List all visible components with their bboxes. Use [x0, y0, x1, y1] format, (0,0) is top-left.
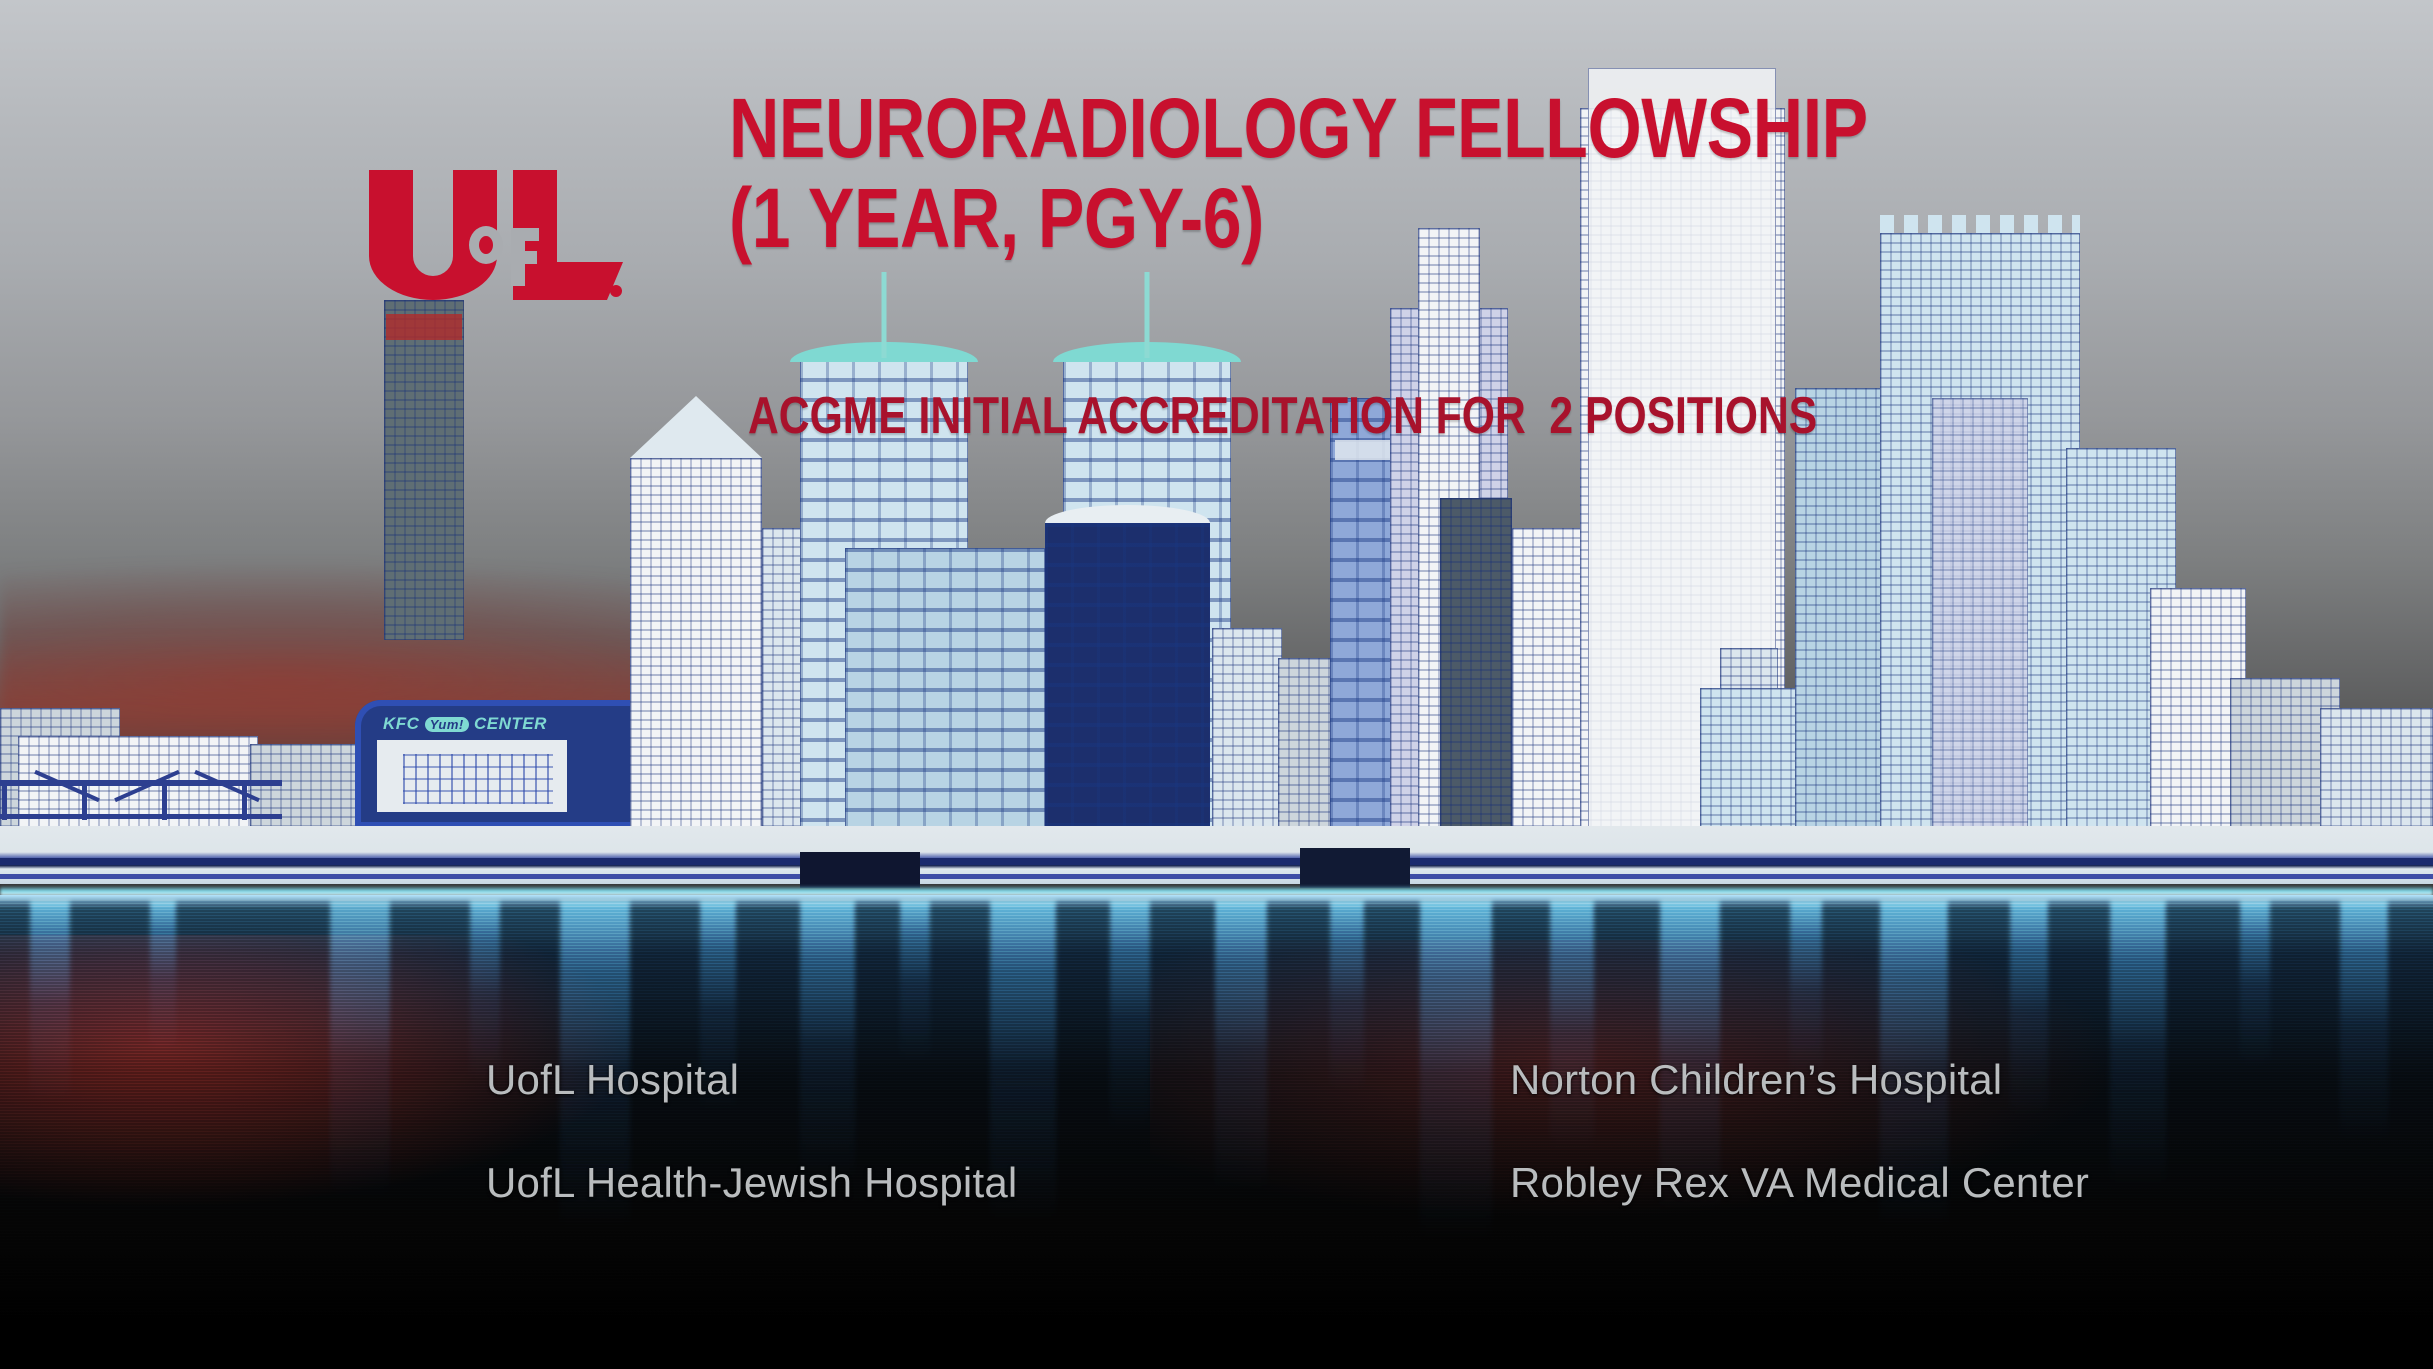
hospital-item-robley-rex-va: Robley Rex VA Medical Center: [1510, 1159, 2089, 1207]
hospital-item-uofl-health-jewish: UofL Health-Jewish Hospital: [486, 1159, 1017, 1207]
hospital-item-uofl-hospital: UofL Hospital: [486, 1056, 739, 1104]
kfc-label: KFC: [383, 714, 419, 733]
uofl-logo: [363, 170, 628, 300]
riverboat-left: [800, 852, 920, 888]
bridge-truss: [0, 770, 292, 830]
waterfront-rail-upper: [0, 858, 2433, 865]
tower-pyramid-roof: [630, 396, 762, 458]
arena-facade-screen: [377, 740, 567, 812]
title-line-2: (1 YEAR, PGY-6): [729, 174, 1891, 264]
bottom-black-bar: [0, 1338, 2433, 1369]
kfc-yum-center-sign: KFC Yum! CENTER: [383, 714, 547, 734]
rooftop-red-sign: [386, 314, 462, 340]
accreditation-subtitle: ACGME INITIAL ACCREDITATION FOR 2 POSITI…: [748, 386, 1978, 446]
waterfront-rail-lower: [0, 874, 2433, 879]
yum-bubble-label: Yum!: [425, 717, 469, 732]
hospital-item-norton-childrens: Norton Children’s Hospital: [1510, 1056, 2002, 1104]
tower-crown: [1880, 215, 2080, 233]
center-label: CENTER: [474, 714, 547, 733]
page-title: NEURORADIOLOGY FELLOWSHIP (1 YEAR, PGY-6…: [729, 84, 1891, 264]
title-line-1: NEURORADIOLOGY FELLOWSHIP: [729, 84, 1891, 174]
riverboat-right: [1300, 848, 1410, 888]
affiliated-hospitals-list: UofL Hospital UofL Health-Jewish Hospita…: [0, 1030, 2433, 1270]
presentation-slide: KFC Yum! CENTER: [0, 0, 2433, 1369]
